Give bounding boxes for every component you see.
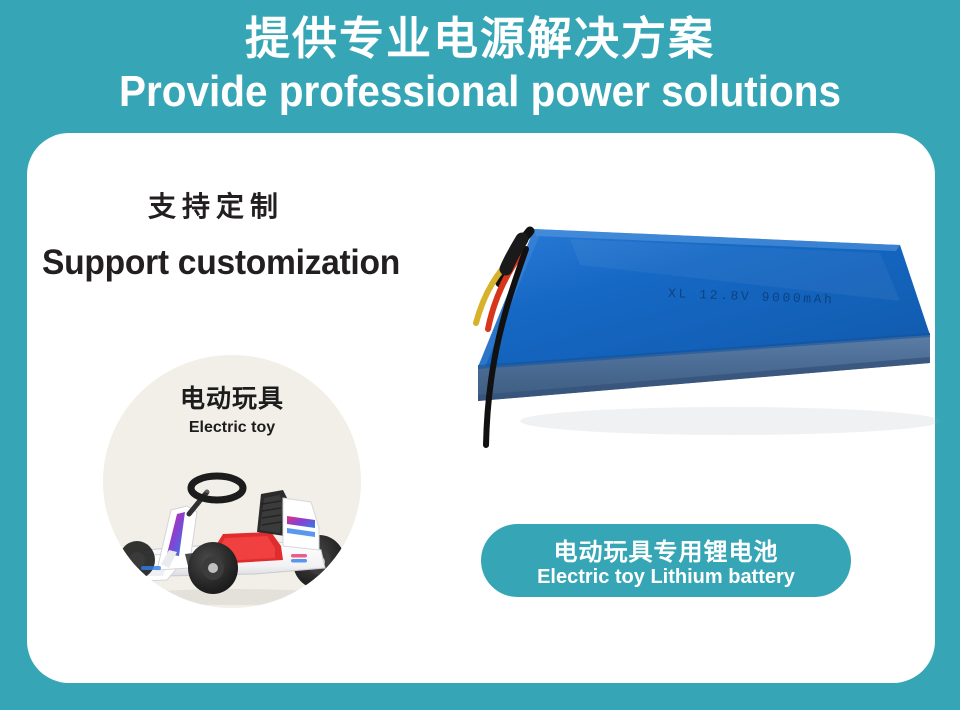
toy-label-en: Electric toy [103, 419, 361, 437]
battery-caption-pill: 电动玩具专用锂电池 Electric toy Lithium battery [481, 524, 851, 597]
caption-text-en: Electric toy Lithium battery [481, 566, 851, 589]
toy-label-cn: 电动玩具 [103, 379, 361, 415]
header-title-en: Provide professional power solutions [38, 67, 921, 117]
go-kart-toy-image [105, 458, 359, 608]
customization-label-cn: 支持定制 [148, 185, 284, 225]
header-title-cn: 提供专业电源解决方案 [0, 12, 960, 66]
electric-toy-circle: 电动玩具 Electric toy [103, 355, 361, 608]
customization-label-en: Support customization [42, 243, 400, 283]
banner-header: 提供专业电源解决方案 Provide professional power so… [0, 0, 960, 126]
caption-text-cn: 电动玩具专用锂电池 [481, 532, 851, 567]
lithium-battery-image: XL 12.8V 9000mAh [430, 205, 950, 525]
product-banner: 提供专业电源解决方案 Provide professional power so… [0, 0, 960, 710]
